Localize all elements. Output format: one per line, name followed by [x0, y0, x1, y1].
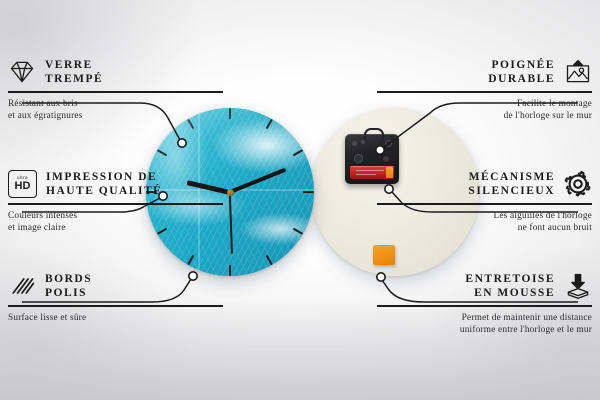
callout-verre-trempe: VERRE TREMPÉ Résistant aux bris et aux é…	[8, 58, 223, 123]
picture-hanger-icon	[564, 58, 592, 86]
callout-divider	[8, 91, 223, 93]
ultra-hd-badge-icon: ultra HD	[8, 170, 37, 198]
mechanism-detail-dot	[352, 141, 357, 146]
callout-header: VERRE TREMPÉ	[8, 58, 223, 87]
foam-spacer-pad	[373, 245, 395, 265]
diamond-icon	[8, 58, 36, 86]
callout-header: MÉCANISME SILENCIEUX	[377, 170, 592, 199]
callout-title: VERRE TREMPÉ	[45, 58, 103, 87]
callout-divider	[377, 203, 592, 205]
callout-divider	[8, 305, 223, 307]
mechanism-screw	[385, 140, 392, 147]
callout-description: Permet de maintenir une distance uniform…	[377, 312, 592, 337]
callout-divider	[377, 91, 592, 93]
callout-mecanisme-silencieux: MÉCANISME SILENCIEUX Les aiguilles de l'…	[377, 170, 592, 235]
callout-bords-polis: BORDS POLIS Surface lisse et sûre	[8, 272, 223, 324]
callout-description: Résistant aux bris et aux égratignures	[8, 98, 223, 123]
callout-title: IMPRESSION DE HAUTE QUALITÉ	[46, 170, 162, 199]
callout-description: Facilite le montage de l'horloge sur le …	[377, 98, 592, 123]
gear-icon	[564, 170, 592, 198]
mechanism-screw	[354, 154, 363, 163]
callout-description: Les aiguilles de l'horloge ne font aucun…	[377, 210, 592, 235]
foam-spacer-icon	[564, 272, 592, 300]
callout-header: BORDS POLIS	[8, 272, 223, 301]
mechanism-hanger-loop	[364, 128, 384, 140]
callout-entretoise-en-mousse: ENTRETOISE EN MOUSSE Permet de maintenir…	[377, 272, 592, 337]
callout-description: Couleurs intenses et image claire	[8, 210, 223, 235]
callout-title: POIGNÉE DURABLE	[488, 58, 555, 87]
callout-header: ultra HD IMPRESSION DE HAUTE QUALITÉ	[8, 170, 223, 199]
mechanism-detail-dot	[361, 140, 365, 144]
callout-title: ENTRETOISE EN MOUSSE	[465, 272, 555, 301]
callout-impression-haute-qualite: ultra HD IMPRESSION DE HAUTE QUALITÉ Cou…	[8, 170, 223, 235]
callout-title: BORDS POLIS	[45, 272, 92, 301]
callout-divider	[377, 305, 592, 307]
battery-label-line	[356, 174, 376, 175]
mechanism-detail-dot	[383, 156, 389, 162]
callout-poignee-durable: POIGNÉE DURABLE Facilite le montage de l…	[377, 58, 592, 123]
infographic-canvas: VERRE TREMPÉ Résistant aux bris et aux é…	[0, 0, 600, 400]
callout-description: Surface lisse et sûre	[8, 312, 223, 325]
polished-edges-icon	[8, 272, 36, 300]
callout-divider	[8, 203, 223, 205]
callout-header: POIGNÉE DURABLE	[377, 58, 592, 87]
callout-header: ENTRETOISE EN MOUSSE	[377, 272, 592, 301]
callout-title: MÉCANISME SILENCIEUX	[468, 170, 555, 199]
